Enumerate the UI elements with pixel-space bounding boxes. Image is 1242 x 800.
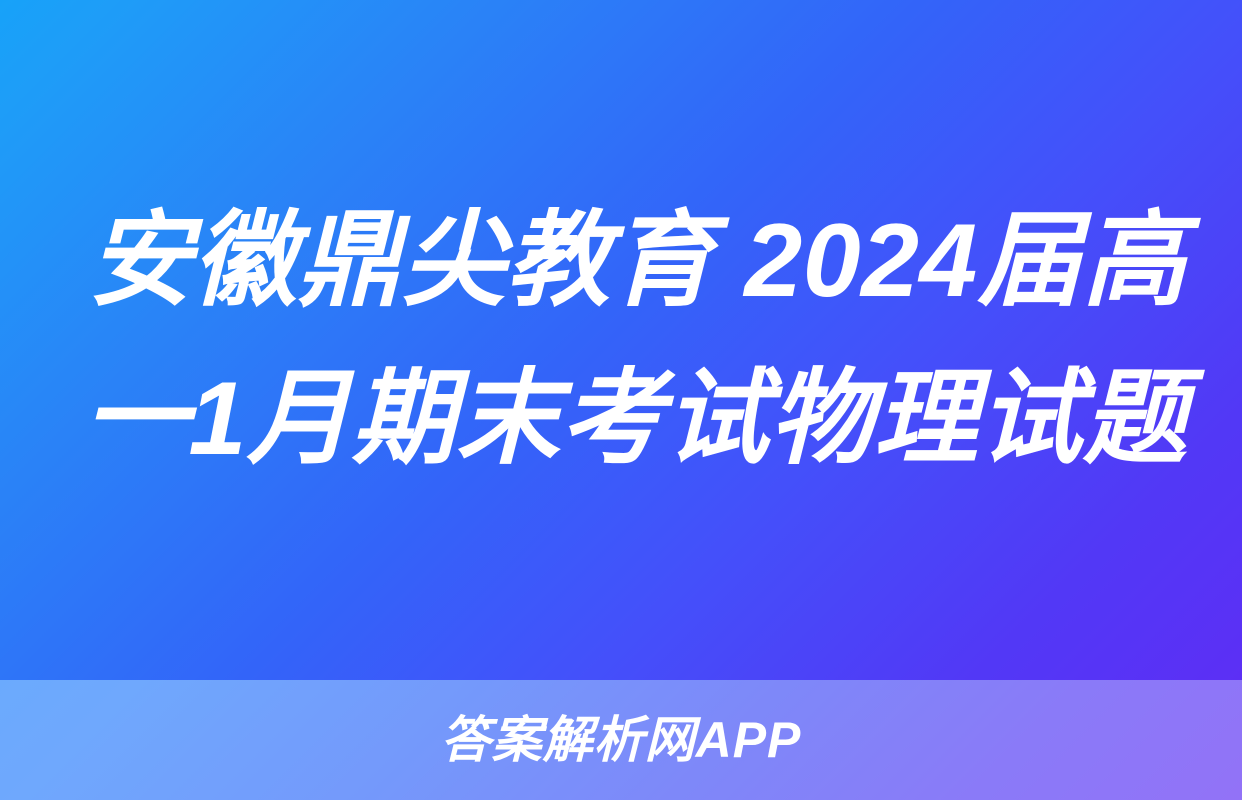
cover-hero-gradient: 安徽鼎尖教育 2024届高 一1月期末考试物理试题 xyxy=(0,0,1242,680)
app-brand-label: 答案解析网APP xyxy=(441,712,802,768)
page-title-line-1: 安徽鼎尖教育 2024届高 xyxy=(88,185,1187,337)
page-title-line-2: 一1月期末考试物理试题 xyxy=(84,343,1187,495)
exam-cover-card: 安徽鼎尖教育 2024届高 一1月期末考试物理试题 答案解析网APP xyxy=(0,0,1242,800)
footer-brand-band: 答案解析网APP xyxy=(0,680,1242,800)
page-title: 安徽鼎尖教育 2024届高 一1月期末考试物理试题 xyxy=(88,185,1187,495)
